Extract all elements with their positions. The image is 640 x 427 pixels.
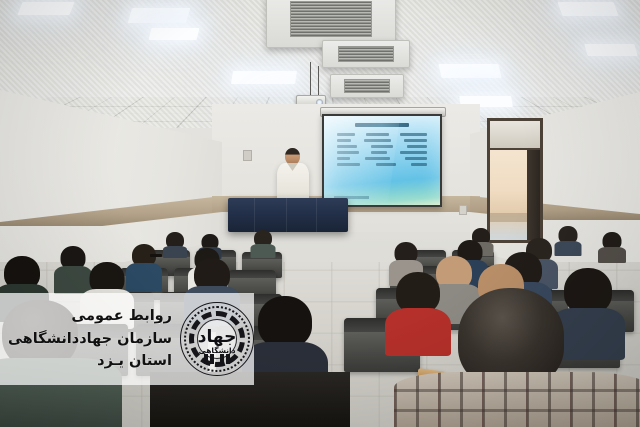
ac-grille bbox=[290, 1, 372, 37]
presenter-table bbox=[228, 198, 348, 232]
ac-grille bbox=[338, 46, 393, 63]
watermark-line-1: روابط عمومی bbox=[8, 305, 172, 327]
projection-screen-assembly bbox=[322, 114, 442, 207]
led-panel-light bbox=[128, 8, 191, 23]
doorway[interactable] bbox=[487, 118, 543, 243]
led-panel-light bbox=[584, 44, 637, 56]
audience-member bbox=[164, 232, 186, 256]
ac-cassette-unit bbox=[322, 40, 410, 68]
corridor-beyond-door bbox=[490, 150, 527, 240]
led-panel-light bbox=[149, 28, 200, 40]
audience-member bbox=[130, 244, 158, 290]
door-transom-window bbox=[490, 121, 540, 150]
audience-member bbox=[252, 230, 274, 256]
lecture-hall-photo: روابط عمومی سازمان جهاددانشگاهی استان یـ… bbox=[0, 0, 640, 427]
plaid-shirt-man bbox=[412, 288, 640, 427]
led-panel-light bbox=[557, 2, 618, 16]
watermark-line-3: استان یـزد bbox=[8, 350, 172, 372]
audience-member bbox=[556, 226, 580, 254]
led-panel-light bbox=[17, 2, 74, 15]
plaid-man-shirt bbox=[394, 372, 640, 427]
open-door-leaf[interactable] bbox=[527, 150, 540, 240]
jahad-daneshgahi-logo-icon: جهاد دانشگاهی bbox=[178, 300, 256, 378]
led-panel-light bbox=[231, 71, 297, 84]
wall-switch-plate bbox=[243, 150, 252, 161]
projector-cable bbox=[318, 66, 319, 96]
audience-member bbox=[58, 246, 88, 292]
logo-emblem-mark bbox=[204, 354, 230, 364]
eyeglasses bbox=[150, 254, 162, 257]
watermark-overlay: روابط عمومی سازمان جهاددانشگاهی استان یـ… bbox=[0, 293, 254, 385]
projector-cable bbox=[310, 62, 311, 96]
projection-screen bbox=[322, 114, 442, 207]
watermark-text: روابط عمومی سازمان جهاددانشگاهی استان یـ… bbox=[8, 305, 178, 372]
audience-member bbox=[600, 232, 624, 260]
led-panel-light bbox=[438, 64, 501, 78]
ac-cassette-unit bbox=[330, 74, 404, 98]
watermark-line-2: سازمان جهاددانشگاهی bbox=[8, 328, 172, 350]
logo-main-text: جهاد bbox=[178, 327, 256, 347]
wall-socket bbox=[459, 205, 467, 215]
ac-grille bbox=[344, 79, 390, 93]
corridor-wainscot bbox=[490, 213, 527, 222]
